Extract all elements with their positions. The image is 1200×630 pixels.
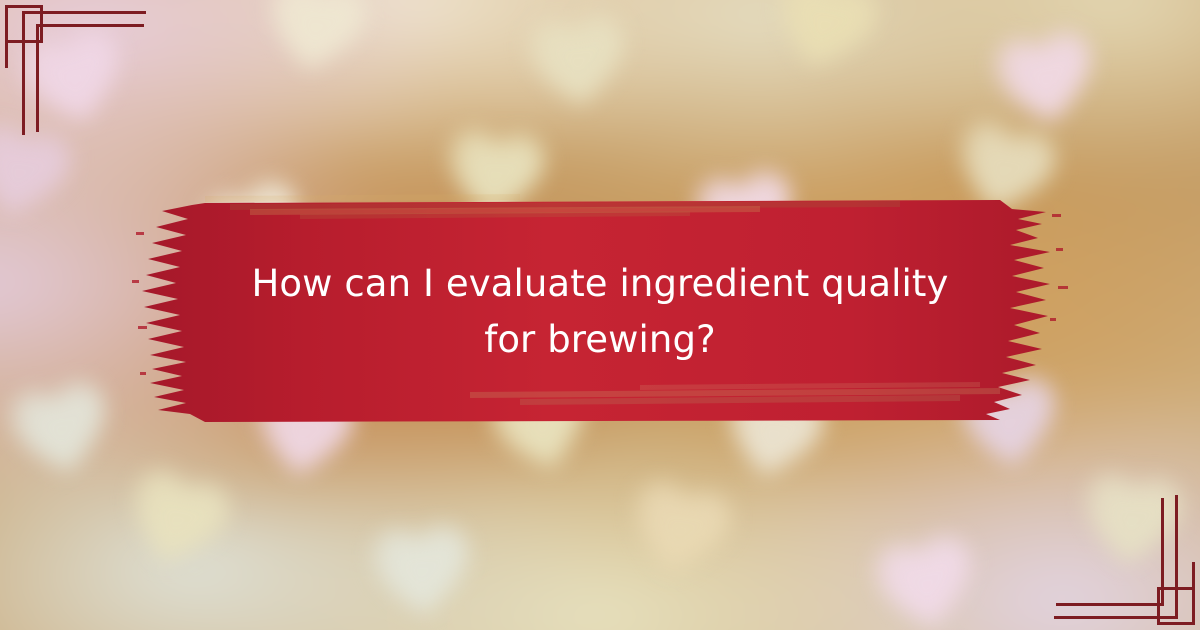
banner-brush-stroke (0, 186, 1200, 438)
corner-vertical-line-outer (22, 11, 25, 135)
corner-vertical-line-outer (1175, 495, 1178, 619)
candy-heart (523, 0, 762, 131)
corner-horizontal-line-inner (1056, 603, 1164, 606)
top-left-corner-frame (0, 0, 160, 150)
candy-heart (988, 0, 1200, 151)
corner-horizontal-line-outer (1054, 616, 1178, 619)
candy-heart (257, 0, 487, 111)
corner-connector-line (1192, 562, 1195, 590)
corner-horizontal-line-outer (22, 11, 146, 14)
corner-vertical-line-inner (1161, 498, 1164, 606)
candy-heart (613, 471, 887, 630)
bottom-right-corner-frame (1040, 480, 1200, 630)
share-card: How can I evaluate ingredient quality fo… (0, 0, 1200, 630)
corner-horizontal-line-inner (36, 24, 144, 27)
corner-connector-line (5, 40, 8, 68)
corner-vertical-line-inner (36, 24, 39, 132)
candy-heart (108, 459, 373, 630)
candy-heart (367, 507, 604, 630)
